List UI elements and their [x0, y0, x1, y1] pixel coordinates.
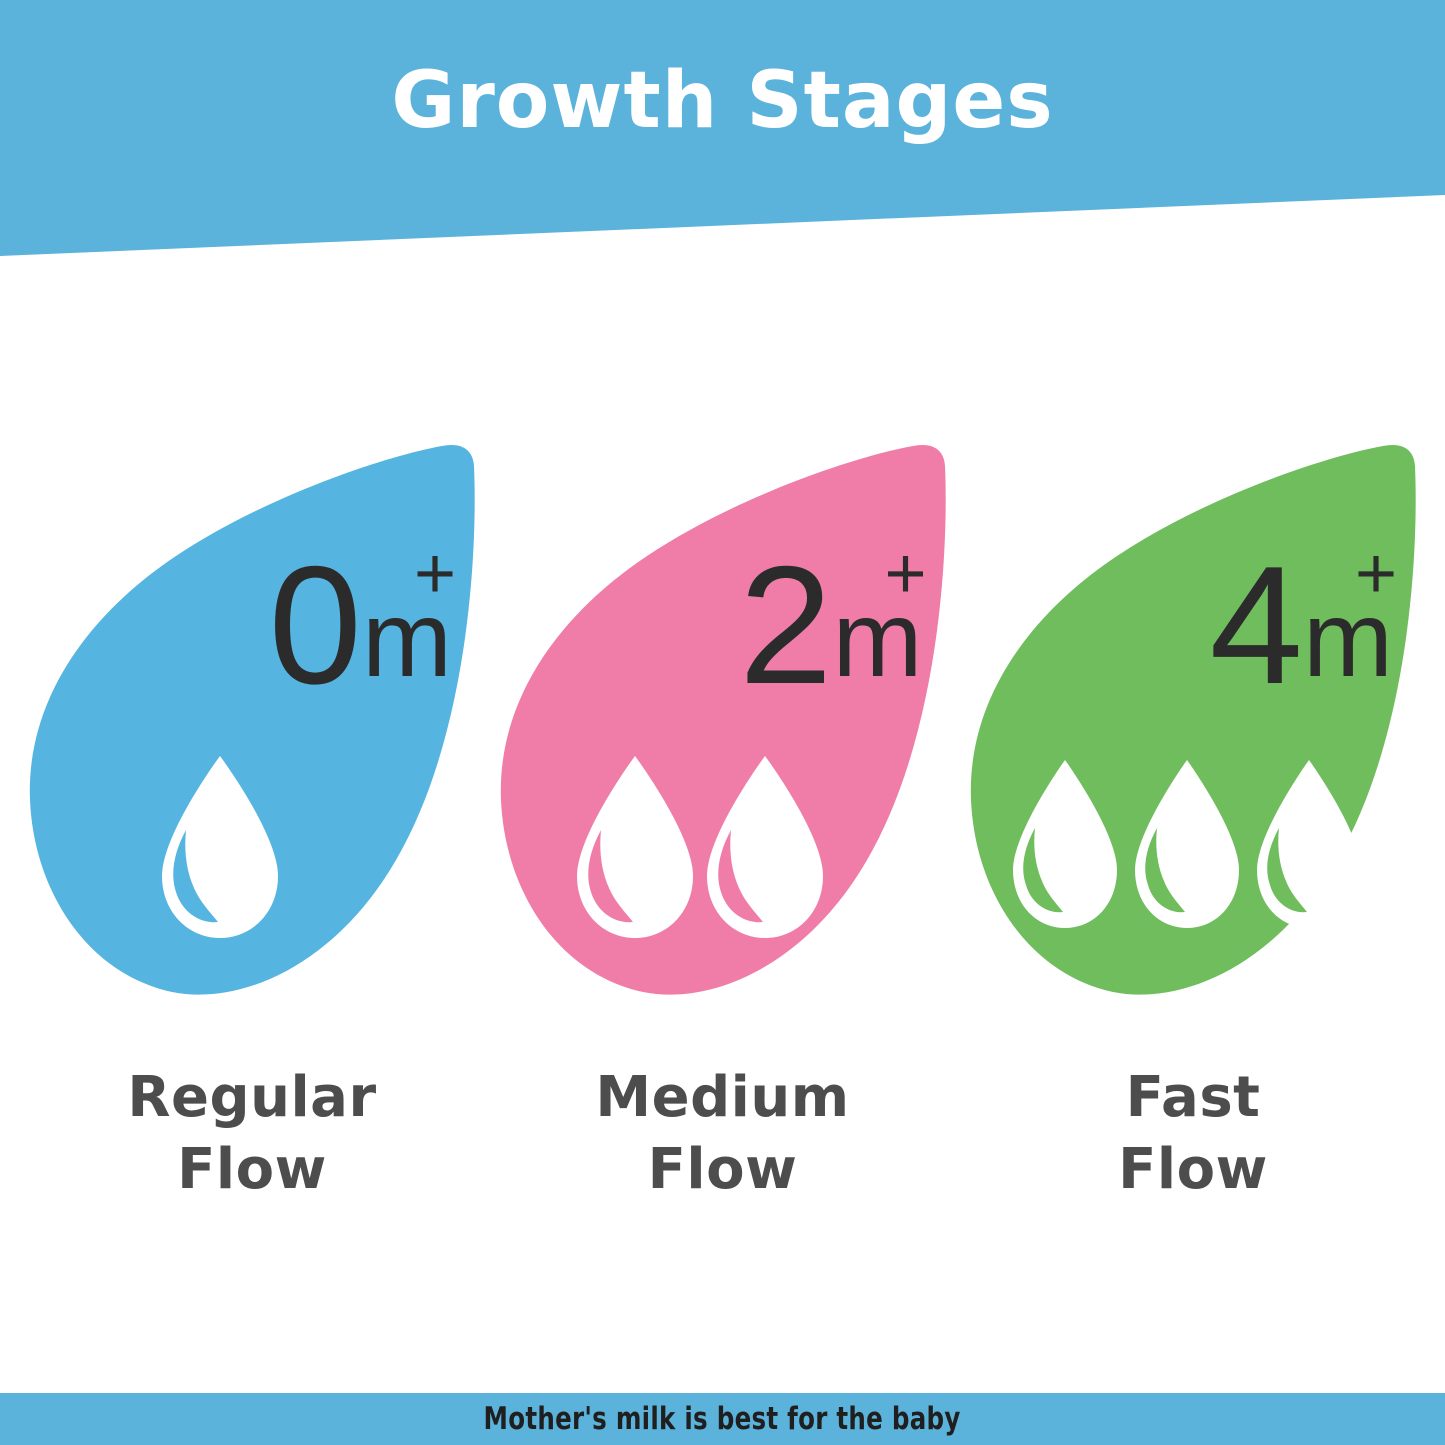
stage-card-fast-flow[interactable]: 4 + m Fast Flow	[967, 440, 1419, 1230]
stage-label-fast: Fast Flow	[1118, 1062, 1268, 1205]
page-title: Growth Stages	[0, 62, 1445, 140]
stage-label-line2: Flow	[127, 1134, 376, 1206]
header-banner: Growth Stages	[0, 0, 1445, 260]
stage-label-regular: Regular Flow	[127, 1062, 376, 1205]
stage-label-line1: Regular	[127, 1065, 376, 1130]
footer-banner: Mother's milk is best for the baby	[0, 1393, 1445, 1445]
stage-label-line1: Medium	[595, 1065, 849, 1130]
teardrop-badge-regular: 0 + m	[26, 440, 478, 1020]
teardrop-badge-medium: 2 + m	[497, 440, 949, 1020]
stage-label-medium: Medium Flow	[595, 1062, 849, 1205]
teardrop-shape-icon	[967, 440, 1419, 1020]
growth-stages-infographic: Growth Stages 0 + m	[0, 0, 1445, 1445]
stage-card-medium-flow[interactable]: 2 + m Medium Flow	[497, 440, 949, 1230]
footer-message: Mother's milk is best for the baby	[484, 1401, 961, 1437]
teardrop-shape-icon	[26, 440, 478, 1020]
stage-card-regular-flow[interactable]: 0 + m Regular Flow	[26, 440, 478, 1230]
teardrop-shape-icon	[497, 440, 949, 1020]
stages-row: 0 + m Regular Flow	[0, 440, 1445, 1240]
stage-label-line2: Flow	[1118, 1134, 1268, 1206]
stage-label-line2: Flow	[595, 1134, 849, 1206]
stage-label-line1: Fast	[1126, 1065, 1261, 1130]
teardrop-badge-fast: 4 + m	[967, 440, 1419, 1020]
